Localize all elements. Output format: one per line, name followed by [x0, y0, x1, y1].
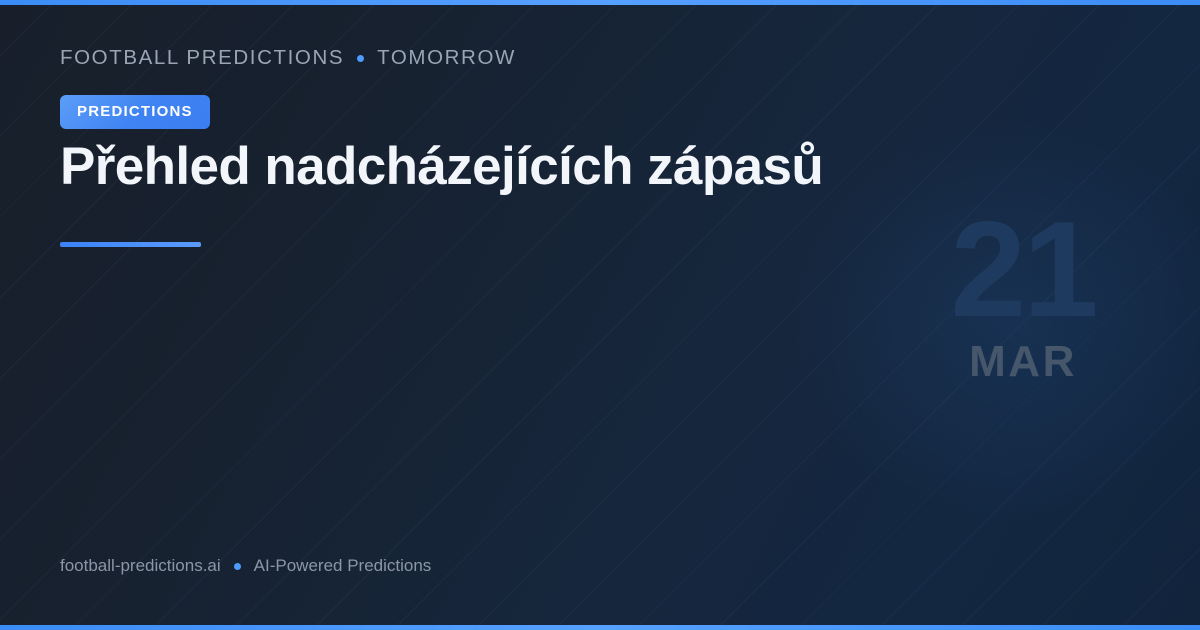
promo-card: FOOTBALL PREDICTIONS TOMORROW PREDICTION… — [0, 0, 1200, 630]
eyebrow: FOOTBALL PREDICTIONS TOMORROW — [60, 46, 516, 70]
date-month: MAR — [908, 340, 1138, 384]
eyebrow-timeframe: TOMORROW — [377, 46, 516, 70]
eyebrow-category: FOOTBALL PREDICTIONS — [60, 46, 344, 70]
title-accent-rule — [60, 242, 201, 247]
footer: football-predictions.ai AI-Powered Predi… — [60, 556, 431, 576]
date-day: 21 — [908, 214, 1138, 326]
footer-site-url[interactable]: football-predictions.ai — [60, 556, 221, 576]
bullet-dot-icon — [357, 55, 364, 62]
predictions-badge[interactable]: PREDICTIONS — [60, 95, 210, 129]
footer-tagline: AI-Powered Predictions — [254, 556, 432, 576]
content-column: FOOTBALL PREDICTIONS TOMORROW PREDICTION… — [60, 0, 960, 630]
bullet-dot-icon — [234, 563, 241, 570]
date-block: 21 MAR — [908, 214, 1138, 384]
page-title: Přehled nadcházejících zápasů — [60, 136, 940, 197]
